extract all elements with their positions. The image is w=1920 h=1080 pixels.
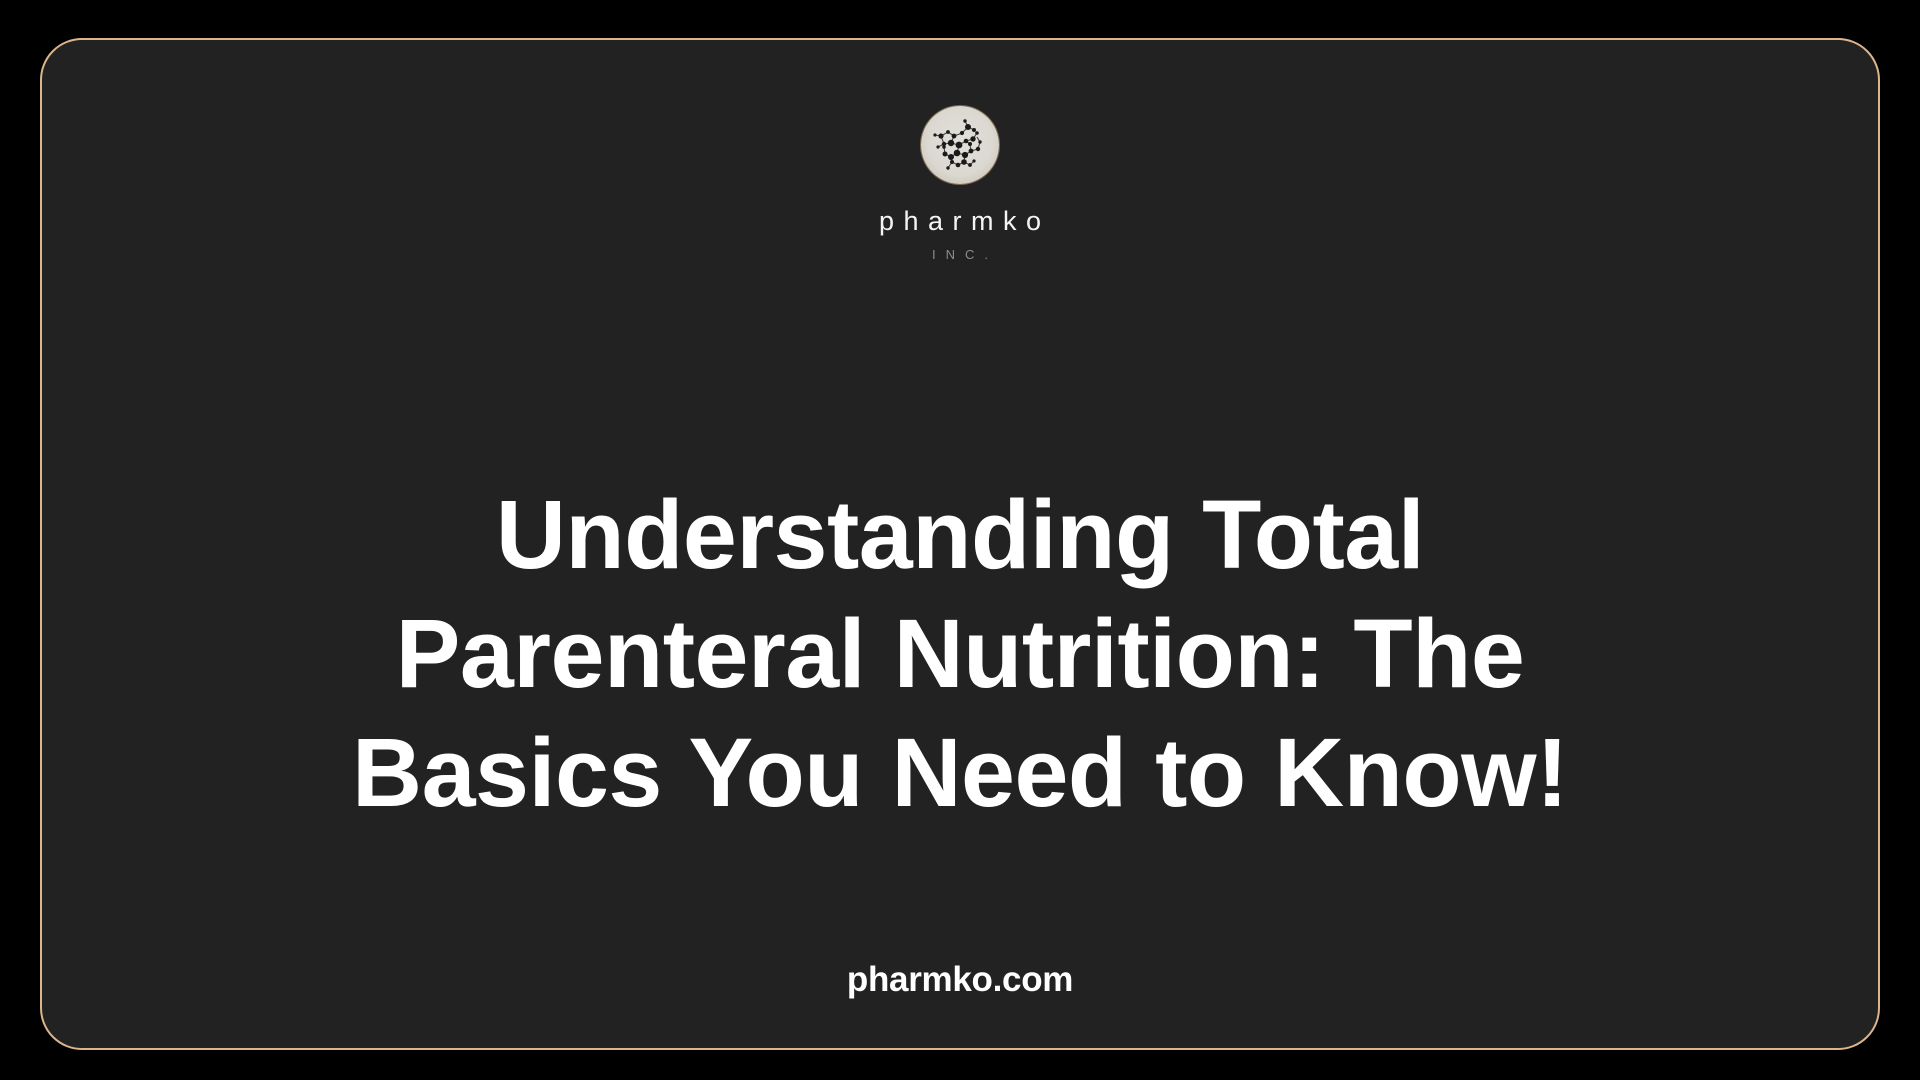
molecule-icon <box>921 106 999 184</box>
slide-card: pharmko INC. Understanding Total Parente… <box>40 38 1880 1050</box>
brand-lockup: pharmko INC. <box>42 106 1878 261</box>
page-title: Understanding Total Parenteral Nutrition… <box>250 475 1670 832</box>
brand-name: pharmko <box>869 208 1050 235</box>
brand-suffix: INC. <box>922 248 998 261</box>
footer-website-url: pharmko.com <box>42 960 1878 1000</box>
slide-stage: pharmko INC. Understanding Total Parente… <box>0 0 1920 1080</box>
